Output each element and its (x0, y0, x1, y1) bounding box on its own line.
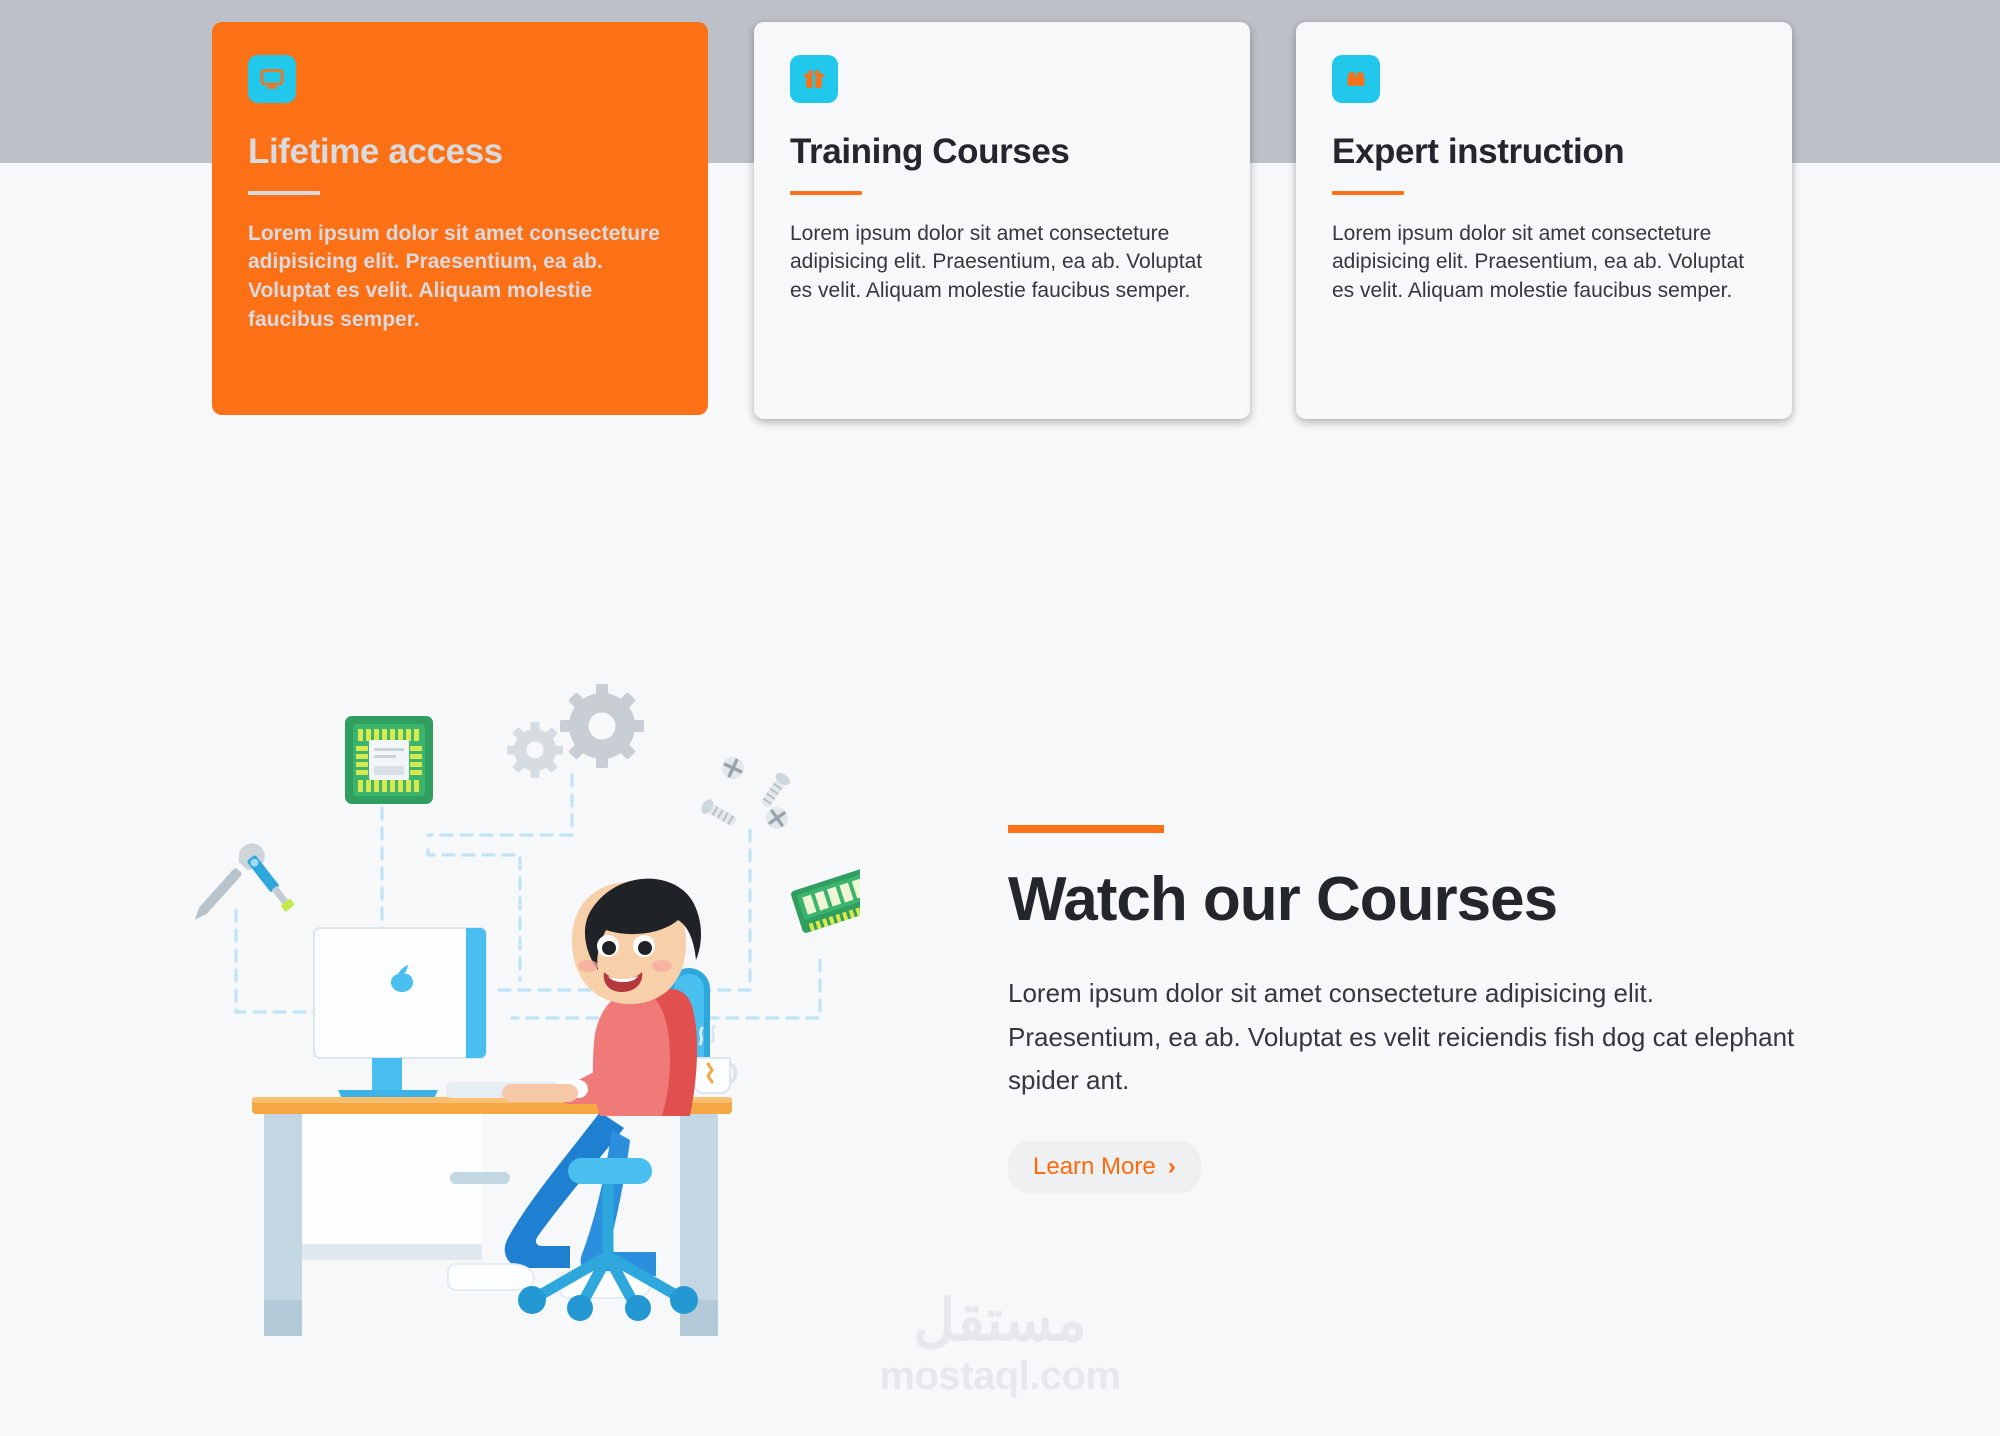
card-rule (1332, 191, 1404, 195)
watermark-arabic-text: مستقل (860, 1292, 1140, 1350)
watch-courses-section: Watch our Courses Lorem ipsum dolor sit … (0, 620, 2000, 1380)
section-rule (1008, 825, 1164, 833)
feature-card-lifetime-access[interactable]: Lifetime access Lorem ipsum dolor sit am… (212, 22, 708, 415)
card-body-text: Lorem ipsum dolor sit amet consecteture … (1332, 220, 1756, 306)
gears (507, 684, 644, 778)
page-title: Watch our Courses (1008, 867, 1808, 932)
gift-icon (790, 55, 838, 103)
card-title: Training Courses (790, 133, 1214, 172)
feature-cards-row: Lifetime access Lorem ipsum dolor sit am… (212, 22, 1792, 422)
screws (699, 754, 792, 831)
person-body (502, 987, 697, 1116)
chair-seat (568, 1158, 652, 1184)
learn-more-label: Learn More (1033, 1153, 1156, 1181)
package-box-icon (1332, 55, 1380, 103)
feature-card-training-courses[interactable]: Training Courses Lorem ipsum dolor sit a… (754, 22, 1250, 419)
card-body-text: Lorem ipsum dolor sit amet consecteture … (248, 220, 672, 335)
desk-body (264, 1114, 718, 1336)
card-rule (790, 191, 862, 195)
section-body-text: Lorem ipsum dolor sit amet consecteture … (1008, 972, 1798, 1103)
cpu-chip (345, 716, 433, 804)
coffee-mug (694, 1026, 736, 1093)
monitor-icon (248, 55, 296, 103)
mostaql-watermark: مستقل mostaql.com (860, 1292, 1140, 1396)
card-rule (248, 191, 320, 195)
computer-monitor (314, 928, 486, 1108)
card-title: Lifetime access (248, 133, 672, 172)
learn-more-button[interactable]: Learn More › (1008, 1141, 1201, 1194)
tools (185, 838, 295, 928)
ram-module (790, 862, 860, 934)
feature-card-expert-instruction[interactable]: Expert instruction Lorem ipsum dolor sit… (1296, 22, 1792, 419)
card-body-text: Lorem ipsum dolor sit amet consecteture … (790, 220, 1214, 306)
person-at-desk-with-computer-illustration (160, 660, 860, 1360)
card-title: Expert instruction (1332, 133, 1756, 172)
watch-courses-text-block: Watch our Courses Lorem ipsum dolor sit … (1008, 825, 1808, 1194)
chevron-right-icon: › (1168, 1155, 1176, 1179)
watermark-latin-text: mostaql.com (860, 1356, 1140, 1396)
